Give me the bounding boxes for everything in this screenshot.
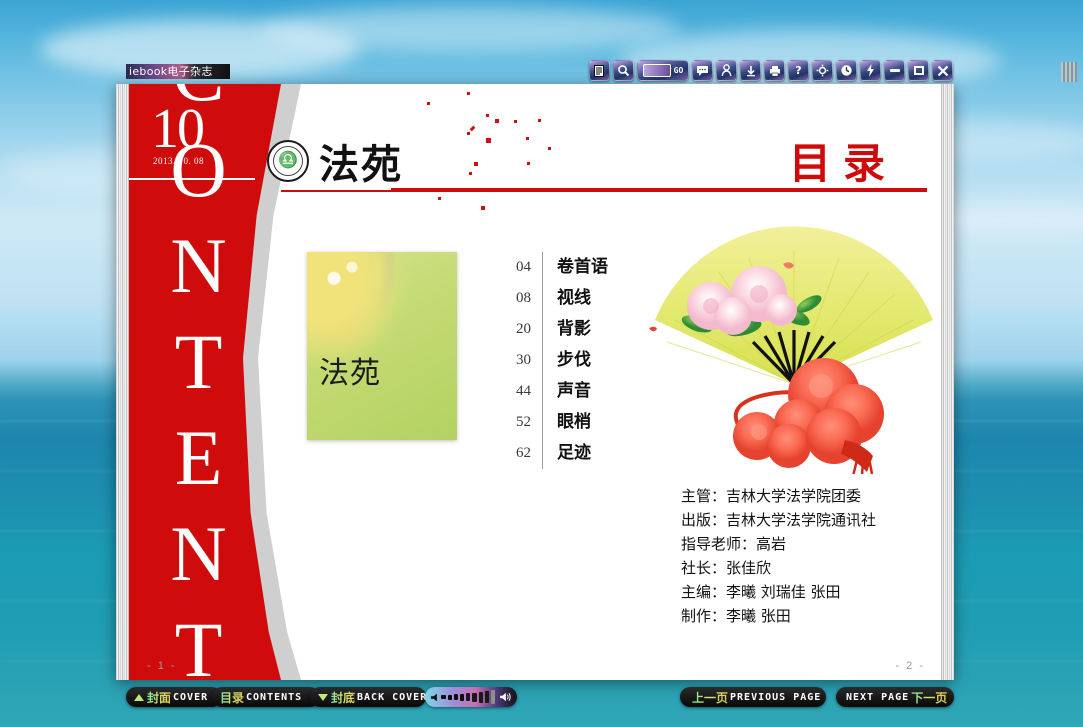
window-title-bar: iebook电子杂志 GO ? [0, 60, 1083, 84]
next-page-label-cn: 下一页 [911, 689, 947, 706]
dot-decoration [481, 206, 485, 210]
page-title: 目录 [789, 130, 897, 191]
volume-slider[interactable] [425, 687, 517, 707]
contents-button-label-cn: 目录 [220, 689, 244, 706]
dot-decoration [467, 92, 470, 95]
window-resize-grip[interactable] [1061, 62, 1077, 82]
volume-tick[interactable] [485, 691, 489, 703]
triangle-down-icon [318, 694, 328, 701]
contents-button-label-en: CONTENTS [246, 692, 302, 703]
cover-button-label-cn: 封面 [147, 689, 171, 706]
table-of-contents-list: 04 卷首语 08 视线 20 背影 30 步伐 44 声音 52 眼梢 [497, 252, 634, 469]
dot-decoration [467, 132, 470, 135]
print-icon[interactable] [764, 60, 785, 81]
page-edge-left [116, 84, 129, 680]
toc-entry-title: 眼梢 [542, 407, 634, 438]
credit-line: 主管：吉林大学法学院团委 [681, 484, 876, 508]
minimize-icon[interactable] [884, 60, 905, 81]
dot-decoration [495, 119, 499, 123]
volume-thumb[interactable] [491, 690, 495, 704]
maximize-icon[interactable] [908, 60, 929, 81]
speaker-low-icon [431, 692, 439, 703]
page-edge-right [941, 84, 954, 680]
cover-thumbnail[interactable]: 法苑 [307, 252, 457, 440]
credit-line: 指导老师：高岩 [681, 532, 876, 556]
lightning-icon[interactable] [860, 60, 881, 81]
previous-page-label-cn: 上一页 [692, 689, 728, 706]
dot-decoration [486, 114, 489, 117]
cover-thumbnail-title: 法苑 [319, 348, 381, 392]
volume-tick[interactable] [454, 694, 458, 700]
toc-page-number: 30 [497, 352, 542, 369]
volume-tick[interactable] [466, 693, 470, 701]
previous-page-button[interactable]: 上一页 PREVIOUS PAGE [680, 687, 826, 707]
dot-decoration [527, 162, 530, 165]
cloud-decoration [260, 6, 680, 52]
cover-button-label-en: COVER [173, 692, 208, 703]
bottom-toolbar: 封面 COVER 目录 CONTENTS 封底 BACK COVER 上一页 P… [0, 687, 1083, 709]
search-icon[interactable] [613, 60, 634, 81]
list-item[interactable]: 04 卷首语 [497, 252, 634, 283]
list-item[interactable]: 20 背影 [497, 314, 634, 345]
dot-decoration [438, 197, 441, 200]
goto-label: GO [674, 66, 684, 75]
contents-vertical-label: CONTENTS [133, 184, 263, 644]
contents-button[interactable]: 目录 CONTENTS [212, 687, 320, 707]
toc-entry-title: 卷首语 [542, 252, 634, 283]
list-item[interactable]: 52 眼梢 [497, 407, 634, 438]
page-number-left: - 1 - [147, 660, 177, 672]
credits-block: 主管：吉林大学法学院团委 出版：吉林大学法学院通讯社 指导老师：高岩 社长：张佳… [681, 484, 876, 628]
toc-page-number: 08 [497, 290, 542, 307]
volume-tick[interactable] [460, 694, 464, 701]
toc-entry-title: 视线 [542, 283, 634, 314]
dot-decoration [427, 102, 430, 105]
help-icon[interactable]: ? [788, 60, 809, 81]
toc-entry-title: 声音 [542, 376, 634, 407]
next-page-button[interactable]: NEXT PAGE 下一页 [836, 687, 954, 707]
dot-decoration [474, 162, 478, 166]
dot-decoration [526, 137, 529, 140]
scales-of-justice-logo-icon: ♎ [267, 140, 309, 182]
toc-page-number: 04 [497, 259, 542, 276]
list-item[interactable]: 44 声音 [497, 376, 634, 407]
back-cover-button-label-cn: 封底 [331, 689, 355, 706]
magazine-name: 法苑 [319, 132, 403, 190]
top-toolbar: GO ? [589, 60, 953, 81]
page-number-right: - 2 - [895, 660, 925, 672]
previous-page-label-en: PREVIOUS PAGE [730, 692, 821, 703]
credit-line: 制作：李曦 张田 [681, 604, 876, 628]
cover-button[interactable]: 封面 COVER [126, 687, 222, 707]
volume-tick[interactable] [479, 692, 483, 703]
toc-page-number: 20 [497, 321, 542, 338]
dot-decoration [486, 138, 491, 143]
dot-decoration [469, 172, 472, 175]
toc-page-number: 52 [497, 414, 542, 431]
list-item[interactable]: 30 步伐 [497, 345, 634, 376]
toc-page-number: 62 [497, 445, 542, 462]
close-icon[interactable] [932, 60, 953, 81]
credit-line: 主编：李曦 刘瑞佳 张田 [681, 580, 876, 604]
back-cover-button-label-en: BACK COVER [357, 692, 427, 703]
toc-page-number: 44 [497, 383, 542, 400]
contents-vertical-text: CONTENTS [161, 84, 235, 680]
clock-icon[interactable] [836, 60, 857, 81]
next-page-label-en: NEXT PAGE [846, 692, 909, 703]
dot-decoration [548, 147, 551, 150]
toc-entry-title: 足迹 [542, 438, 634, 469]
logo-glyph: ♎ [278, 153, 298, 169]
comment-icon[interactable] [692, 60, 713, 81]
list-item[interactable]: 08 视线 [497, 283, 634, 314]
dot-decoration [470, 126, 476, 132]
magazine-page-spread[interactable]: 10 2013. 10. 08 CONTENTS ♎ 法苑 目录 [129, 84, 941, 680]
speaker-high-icon [500, 691, 511, 703]
app-title-label: iebook电子杂志 [126, 64, 230, 79]
download-icon[interactable] [740, 60, 761, 81]
toc-entry-title: 背影 [542, 314, 634, 345]
credit-line: 出版：吉林大学法学院通讯社 [681, 508, 876, 532]
triangle-up-icon [134, 694, 144, 701]
folding-fan-illustration [649, 224, 939, 474]
goto-page-box[interactable]: GO [637, 60, 689, 81]
user-icon[interactable] [716, 60, 737, 81]
magazine-viewer: 10 2013. 10. 08 CONTENTS ♎ 法苑 目录 [116, 84, 954, 680]
header-rule-thin [281, 190, 391, 192]
back-cover-button[interactable]: 封底 BACK COVER [310, 687, 426, 707]
list-item[interactable]: 62 足迹 [497, 438, 634, 469]
toc-entry-title: 步伐 [542, 345, 634, 376]
volume-tick[interactable] [472, 693, 476, 702]
dot-decoration [538, 119, 541, 122]
volume-tick[interactable] [448, 695, 452, 700]
dot-decoration [514, 120, 517, 123]
settings-icon[interactable] [812, 60, 833, 81]
catalog-icon[interactable] [589, 60, 610, 81]
volume-tick[interactable] [441, 695, 445, 699]
credit-line: 社长：张佳欣 [681, 556, 876, 580]
